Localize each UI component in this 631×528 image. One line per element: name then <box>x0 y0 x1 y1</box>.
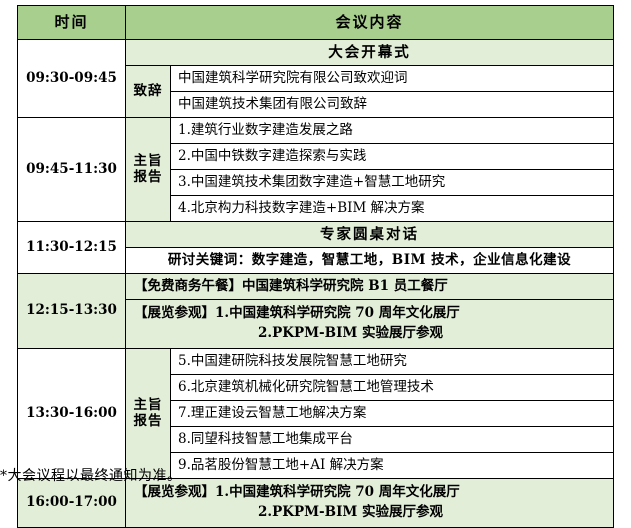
tour-line-1: 【展览参观】1.中国建筑科学研究院 70 周年文化展厅 <box>134 484 460 500</box>
table-row: 13:30-16:00 主旨 报告 5.中国建研院科技发展院智慧工地研究 <box>18 349 614 375</box>
tour-line-2: 2.PKPM-BIM 实验展厅参观 <box>134 503 613 523</box>
agenda-item: 2.中国中铁数字建造探索与实践 <box>171 144 614 170</box>
agenda-item: 中国建筑技术集团有限公司致辞 <box>171 92 614 118</box>
table-row: 12:15-13:30 【免费商务午餐】中国建筑科学研究院 B1 员工餐厅 <box>18 274 614 300</box>
exhibition-tour-3: 【展览参观】1.中国建筑科学研究院 70 周年文化展厅 2.PKPM-BIM 实… <box>126 300 614 349</box>
agenda-page: 时间 会议内容 09:30-09:45 大会开幕式 致辞 中国建筑科学研究院有限… <box>0 0 631 495</box>
table-header-row: 时间 会议内容 <box>18 6 614 40</box>
conference-agenda-table: 时间 会议内容 09:30-09:45 大会开幕式 致辞 中国建筑科学研究院有限… <box>17 5 614 528</box>
table-row: 16:00-17:00 【展览参观】1.中国建筑科学研究院 70 周年文化展厅 … <box>18 479 614 528</box>
header-content: 会议内容 <box>126 6 614 40</box>
agenda-item: 8.同望科技智慧工地集成平台 <box>171 427 614 453</box>
kind-line-2: 报告 <box>134 169 163 185</box>
section-title-0: 大会开幕式 <box>126 40 614 66</box>
time-cell-0: 09:30-09:45 <box>18 40 126 118</box>
table-row: 11:30-12:15 专家圆桌对话 <box>18 222 614 248</box>
header-time: 时间 <box>18 6 126 40</box>
kind-line-2: 报告 <box>134 413 163 429</box>
time-cell-1: 09:45-11:30 <box>18 118 126 222</box>
agenda-item: 1.建筑行业数字建造发展之路 <box>171 118 614 144</box>
exhibition-tour-5: 【展览参观】1.中国建筑科学研究院 70 周年文化展厅 2.PKPM-BIM 实… <box>126 479 614 528</box>
agenda-item: 9.品茗股份智慧工地+AI 解决方案 <box>171 453 614 479</box>
time-cell-5: 16:00-17:00 <box>18 479 126 528</box>
kind-cell-1: 主旨 报告 <box>126 118 171 222</box>
tour-line-1: 【展览参观】1.中国建筑科学研究院 70 周年文化展厅 <box>134 305 460 321</box>
kind-line-1: 主旨 <box>134 153 163 169</box>
agenda-footnote: *大会议程以最终通知为准。 <box>0 465 182 485</box>
agenda-item: 7.理正建设云智慧工地解决方案 <box>171 401 614 427</box>
roundtable-keywords: 研讨关键词：数字建造，智慧工地，BIM 技术，企业信息化建设 <box>126 248 614 274</box>
kind-cell-4: 主旨 报告 <box>126 349 171 479</box>
agenda-item: 中国建筑科学研究院有限公司致欢迎词 <box>171 66 614 92</box>
agenda-item: 3.中国建筑技术集团数字建造+智慧工地研究 <box>171 170 614 196</box>
kind-cell-0: 致辞 <box>126 66 171 118</box>
agenda-item: 6.北京建筑机械化研究院智慧工地管理技术 <box>171 375 614 401</box>
section-title-2: 专家圆桌对话 <box>126 222 614 248</box>
agenda-item: 5.中国建研院科技发展院智慧工地研究 <box>171 349 614 375</box>
kind-line-1: 主旨 <box>134 397 163 413</box>
table-row: 09:30-09:45 大会开幕式 <box>18 40 614 66</box>
agenda-item: 4.北京构力科技数字建造+BIM 解决方案 <box>171 196 614 222</box>
time-cell-2: 11:30-12:15 <box>18 222 126 274</box>
tour-line-2: 2.PKPM-BIM 实验展厅参观 <box>134 324 613 344</box>
table-row: 09:45-11:30 主旨 报告 1.建筑行业数字建造发展之路 <box>18 118 614 144</box>
time-cell-3: 12:15-13:30 <box>18 274 126 349</box>
lunch-note: 【免费商务午餐】中国建筑科学研究院 B1 员工餐厅 <box>126 274 614 300</box>
time-cell-4: 13:30-16:00 <box>18 349 126 479</box>
